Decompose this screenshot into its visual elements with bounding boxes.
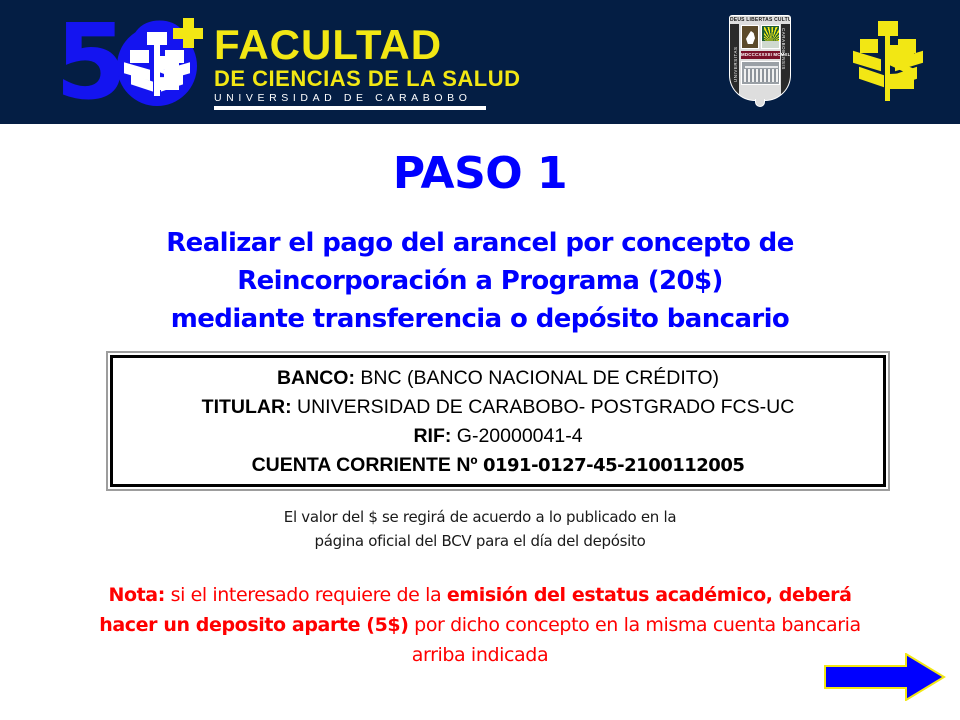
- subtitle-line-3: mediante transferencia o depósito bancar…: [80, 300, 880, 338]
- bank-row-banco: BANCO: BNC (BANCO NACIONAL DE CRÉDITO): [123, 364, 873, 393]
- note-bold-1: emisión del estatus académico, deberá: [447, 584, 852, 606]
- faculty-underline-rule: [214, 106, 486, 110]
- page-title: PASO 1: [0, 148, 960, 199]
- uc-shield-right-text: CARABOBENSIS: [781, 28, 786, 70]
- bank-row-titular: TITULAR: UNIVERSIDAD DE CARABOBO- POSTGR…: [123, 393, 873, 422]
- faculty-line2: DE CIENCIAS DE LA SALUD: [214, 67, 514, 91]
- note-bold-2: hacer un deposito aparte (5$): [99, 614, 408, 636]
- uc-shield-quarter-sunrise: [761, 25, 780, 49]
- note-line-3: arriba indicada: [40, 640, 920, 670]
- important-note: Nota: si el interesado requiere de la em…: [40, 580, 920, 670]
- bank-details-box: BANCO: BNC (BANCO NACIONAL DE CRÉDITO) T…: [106, 351, 890, 491]
- uc-shield-icon: DEUS LIBERTAS CULTURA UNIVERSITAS CARABO…: [729, 15, 791, 107]
- fcs-torch-emblem-icon: [852, 13, 924, 109]
- bcv-note-line-1: El valor del $ se regirá de acuerdo a lo…: [180, 505, 780, 529]
- subtitle-line-2: Reincorporación a Programa (20$): [80, 262, 880, 300]
- bcv-note-line-2: página oficial del BCV para el día del d…: [180, 529, 780, 553]
- plus-icon: [173, 18, 203, 48]
- bank-row-rif: RIF: G-20000041-4: [123, 422, 873, 451]
- bank-label-banco: BANCO:: [277, 367, 355, 389]
- uc-shield-left-text: UNIVERSITAS: [733, 46, 738, 82]
- bank-value-rif: G-20000041-4: [457, 425, 583, 447]
- anniversary-logo: 50: [55, 14, 215, 110]
- faculty-line1: FACULTAD: [214, 24, 514, 66]
- uc-shield-motto: DEUS LIBERTAS CULTURA: [730, 17, 790, 23]
- faculty-line3: UNIVERSIDAD DE CARABOBO: [214, 91, 514, 105]
- subtitle-line-1: Realizar el pago del arancel por concept…: [80, 224, 880, 262]
- uc-shield-building: [741, 61, 780, 85]
- bank-value-cuenta: 0191-0127-45-2100112005: [483, 455, 744, 476]
- subtitle: Realizar el pago del arancel por concept…: [80, 224, 880, 338]
- note-label: Nota:: [108, 584, 164, 606]
- arrow-right-shape: [824, 653, 946, 701]
- bank-label-titular: TITULAR:: [202, 396, 292, 418]
- note-text-part1: si el interesado requiere de la: [165, 584, 447, 606]
- bank-label-cuenta: CUENTA CORRIENTE Nº: [252, 454, 478, 476]
- arrow-right-icon[interactable]: [824, 653, 946, 701]
- header-band: 50 FACULTAD DE CIENCIAS DE LA SALUD UNIV…: [0, 0, 960, 124]
- uc-shield-date: MDCCCXXXIII MCMXLVIII: [741, 51, 780, 59]
- bank-label-rif: RIF:: [413, 425, 451, 447]
- note-text-part2: por dicho concepto en la misma cuenta ba…: [409, 614, 861, 636]
- bank-row-cuenta: CUENTA CORRIENTE Nº 0191-0127-45-2100112…: [123, 451, 873, 480]
- bank-value-titular: UNIVERSIDAD DE CARABOBO- POSTGRADO FCS-U…: [297, 396, 794, 418]
- slide: 50 FACULTAD DE CIENCIAS DE LA SALUD UNIV…: [0, 0, 960, 720]
- uc-shield-quarter-horse: [741, 25, 759, 49]
- bcv-exchange-note: El valor del $ se regirá de acuerdo a lo…: [180, 505, 780, 553]
- bank-value-banco: BNC (BANCO NACIONAL DE CRÉDITO): [360, 367, 719, 389]
- faculty-wordmark: FACULTAD DE CIENCIAS DE LA SALUD UNIVERS…: [214, 24, 514, 110]
